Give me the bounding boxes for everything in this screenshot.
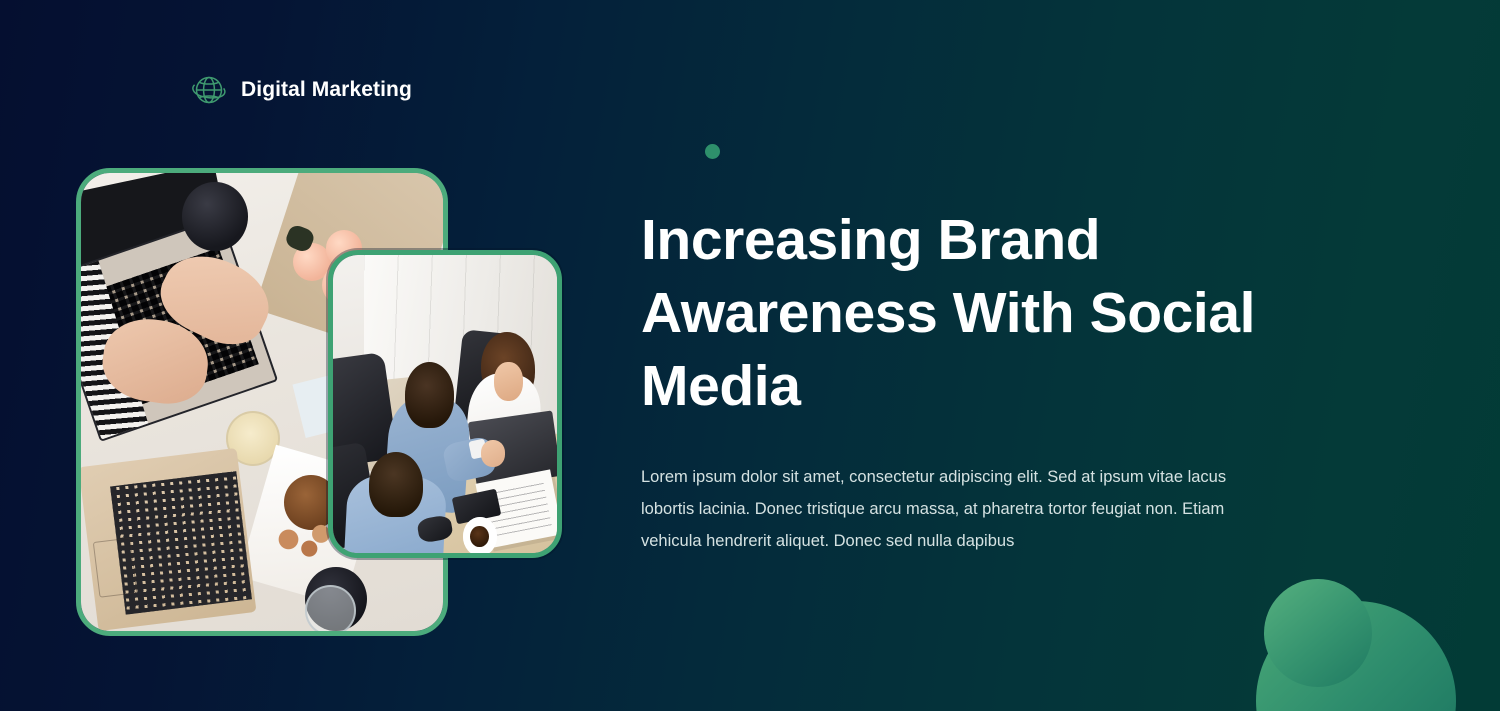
brand-logo[interactable]: Digital Marketing (189, 70, 412, 110)
green-circles-decoration (1230, 581, 1500, 711)
photo-card-secondary (328, 250, 562, 558)
globe-orbit-icon (189, 70, 229, 110)
decor-circle-small (1264, 579, 1372, 687)
team-meeting-photo (333, 255, 557, 553)
page-title: Increasing Brand Awareness With Social M… (641, 204, 1281, 423)
slide-canvas: Digital Marketing (0, 0, 1500, 711)
green-accent-dot (705, 144, 720, 159)
brand-name: Digital Marketing (241, 78, 412, 102)
hero-description: Lorem ipsum dolor sit amet, consectetur … (641, 461, 1257, 558)
hero-content: Increasing Brand Awareness With Social M… (641, 204, 1281, 557)
decor-circle-large (1256, 601, 1456, 711)
